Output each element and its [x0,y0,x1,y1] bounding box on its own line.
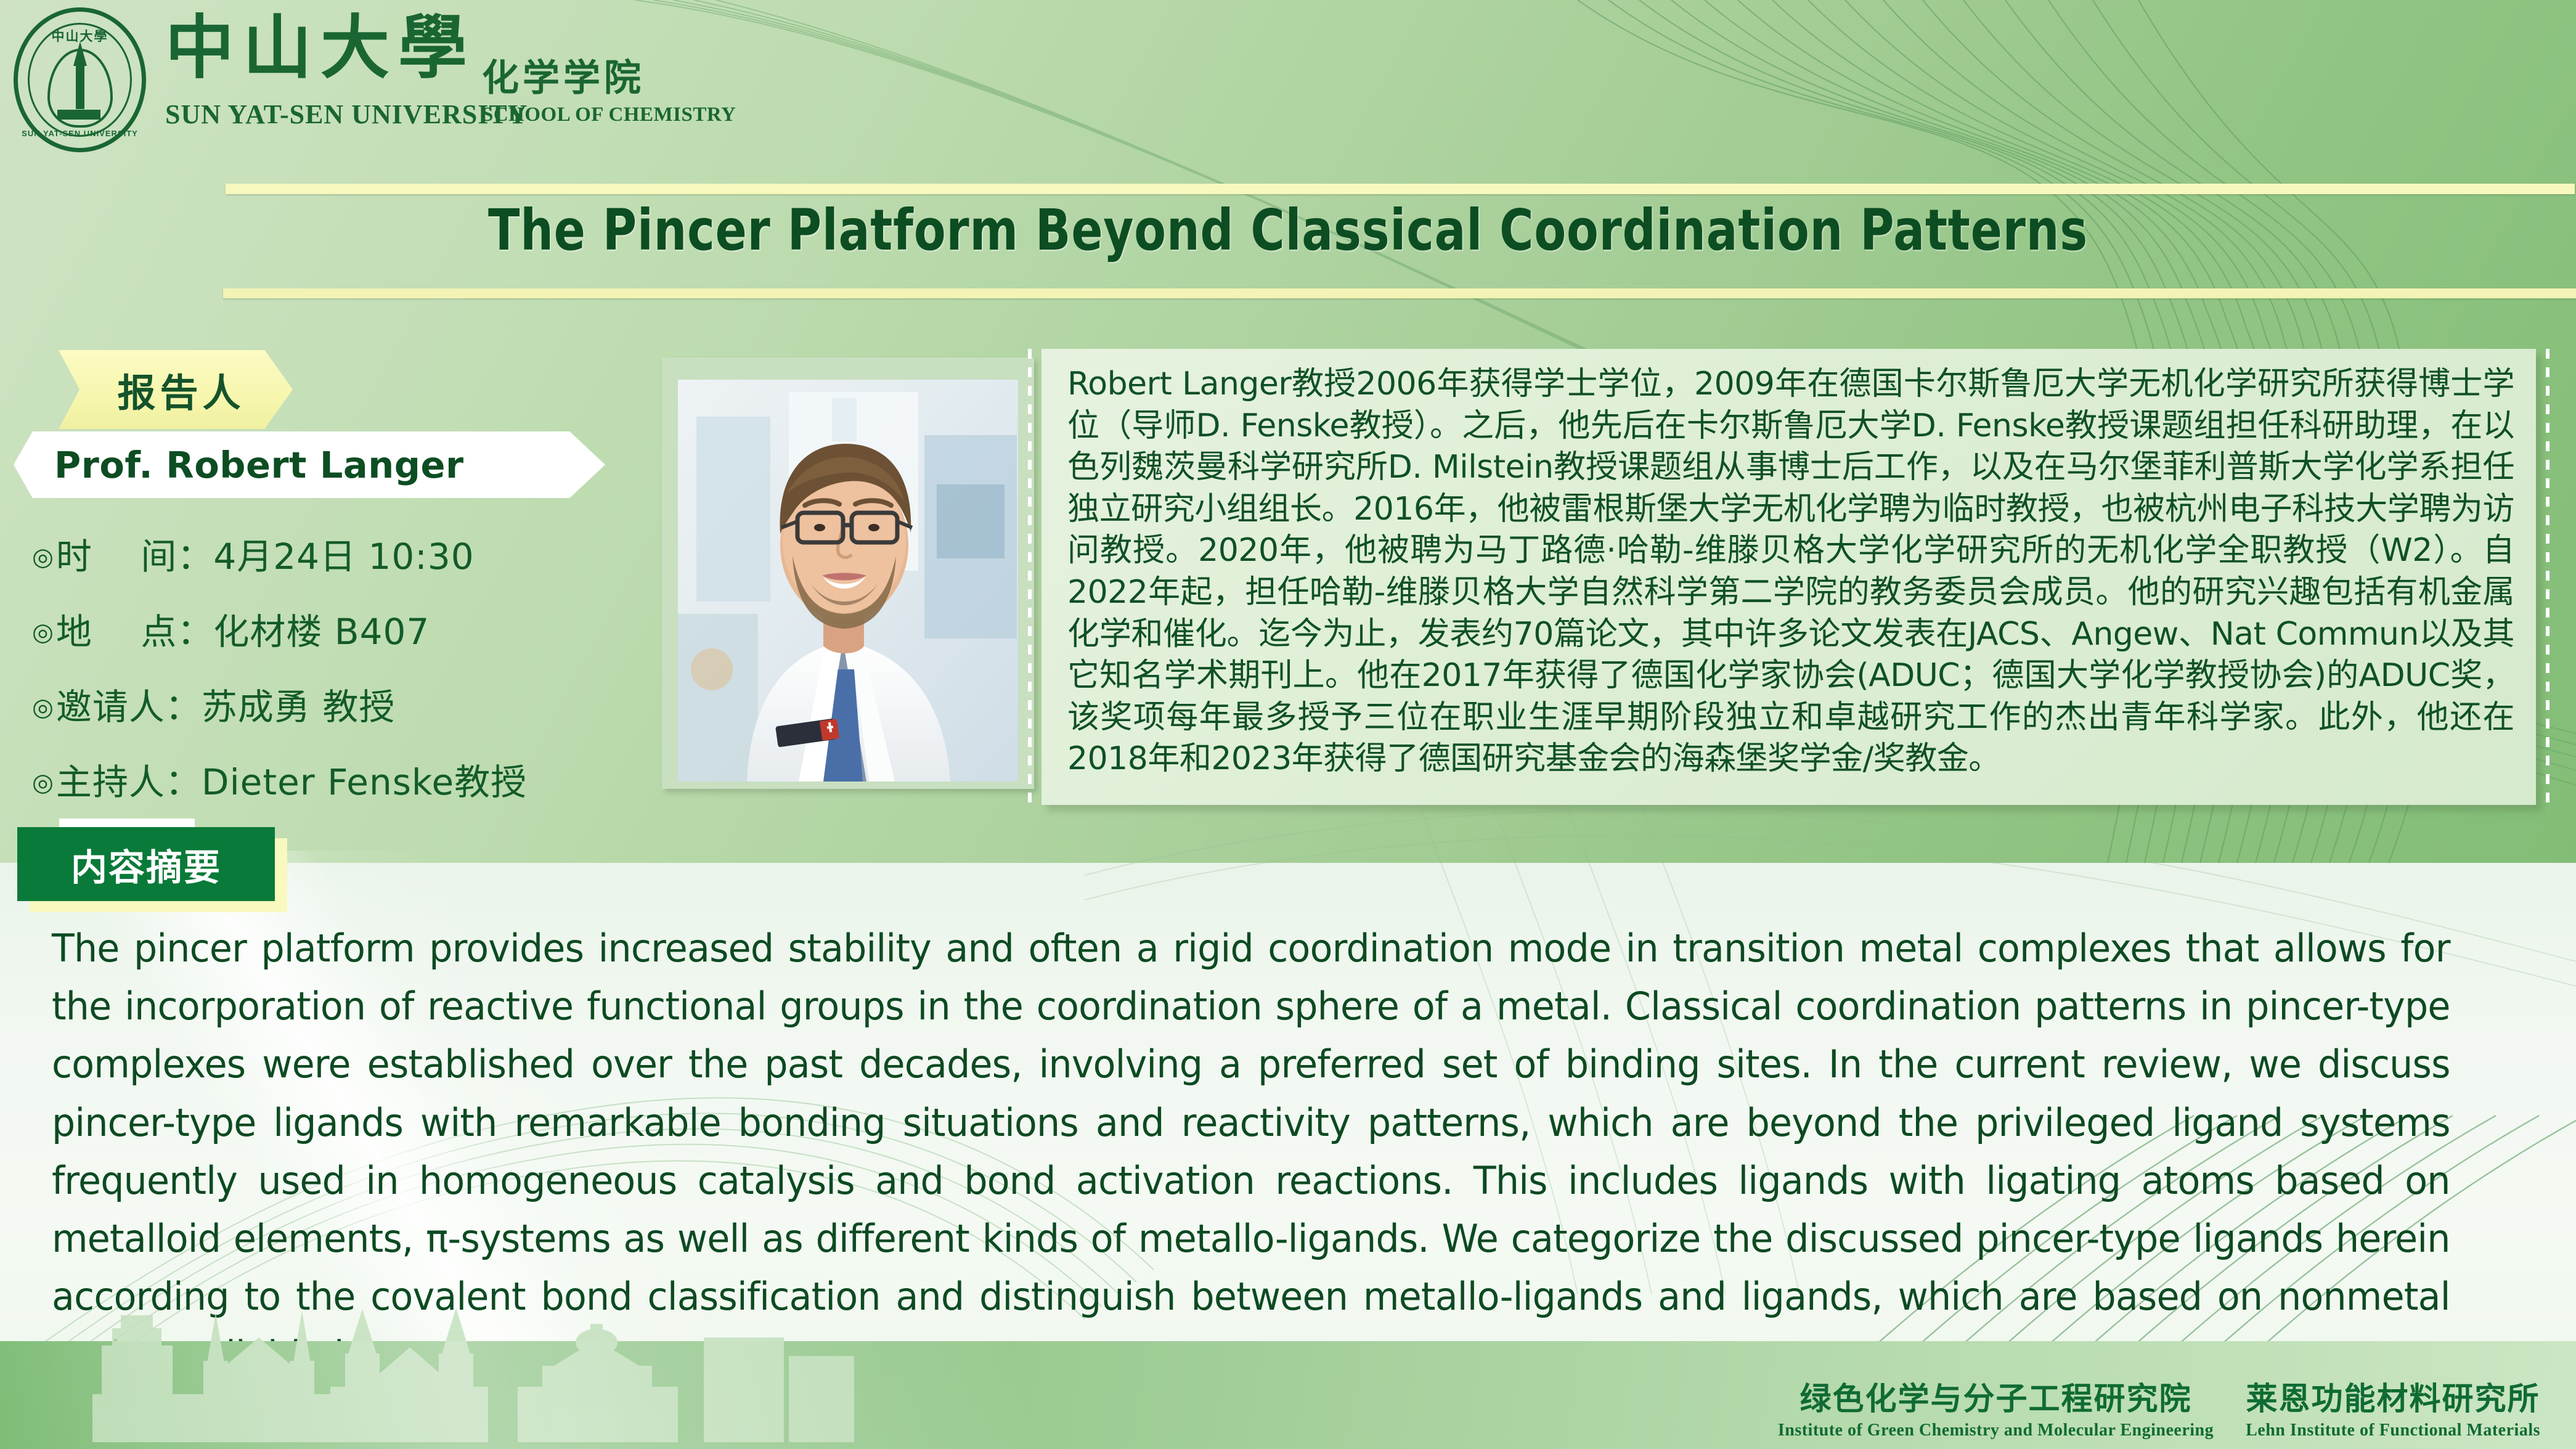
abstract-label-text: 内容摘要 [71,838,221,891]
seal-tower-body [76,65,84,109]
seal-tower-emblem [47,49,113,128]
speaker-name-ribbon: Prof. Robert Langer [14,431,605,498]
detail-host: 主持人：Dieter Fenske教授 [56,753,527,805]
university-name-chinese: 中山大學 [165,11,476,86]
detail-location: 地 点：化材楼 B407 [56,603,430,655]
speaker-photo [678,380,1018,782]
speaker-name: Prof. Robert Langer [14,444,464,486]
university-name-english: SUN YAT-SEN UNIVERSITY [165,99,528,130]
detail-time: 时 间：4月24日 10:30 [56,528,475,579]
bullet-icon: ◎ [32,769,54,797]
seal-english-text: SUN YAT-SEN UNIVERSITY [18,129,142,138]
biography-text: Robert Langer教授2006年获得学士学位，2009年在德国卡尔斯鲁厄… [1067,364,2514,780]
footer-institutes: 绿色化学与分子工程研究院 Institute of Green Chemistr… [1778,1382,2540,1440]
bullet-icon: ◎ [32,618,54,647]
bullet-icon: ◎ [32,693,54,722]
detail-row-host: ◎ 主持人：Dieter Fenske教授 [32,753,661,805]
speaker-banner: 报告人 [59,350,293,429]
institute-green-chemistry: 绿色化学与分子工程研究院 Institute of Green Chemistr… [1778,1382,2214,1440]
speaker-details: ◎ 时 间：4月24日 10:30 ◎ 地 点：化材楼 B407 ◎ 邀请人：苏… [32,528,661,828]
institute-green-chemistry-en: Institute of Green Chemistry and Molecul… [1778,1421,2214,1440]
biography-panel: Robert Langer教授2006年获得学士学位，2009年在德国卡尔斯鲁厄… [1041,349,2536,805]
dotted-border-right [2546,349,2550,805]
department-name-chinese: 化学学院 [482,48,645,102]
university-seal-logo: 中山大學 SUN YAT-SEN UNIVERSITY [14,7,146,152]
abstract-label-box: 内容摘要 [17,827,275,901]
institute-lehn-materials: 莱恩功能材料研究所 Lehn Institute of Functional M… [2246,1382,2540,1440]
detail-row-inviter: ◎ 邀请人：苏成勇 教授 [32,678,661,730]
bullet-icon: ◎ [32,543,54,571]
speaker-photo-frame [662,357,1034,789]
seal-tower-spire [73,41,87,66]
seal-tower-base [57,110,100,120]
detail-row-location: ◎ 地 点：化材楼 B407 [32,603,661,655]
detail-inviter: 邀请人：苏成勇 教授 [56,678,395,730]
institute-lehn-materials-cn: 莱恩功能材料研究所 [2246,1382,2540,1417]
institute-lehn-materials-en: Lehn Institute of Functional Materials [2246,1421,2540,1440]
institute-green-chemistry-cn: 绿色化学与分子工程研究院 [1778,1382,2214,1417]
speaker-banner-label: 报告人 [106,362,245,417]
title-rule-top [226,184,2575,194]
title-rule-bottom [223,288,2576,298]
dotted-border-left [1028,349,1032,805]
department-name-english: SCHOOL OF CHEMISTRY [482,104,736,126]
header: 中山大學 SUN YAT-SEN UNIVERSITY 中山大學 SUN YAT… [0,0,2576,163]
abstract-body-text: The pincer platform provides increased s… [52,920,2450,1384]
seminar-poster: 中山大學 SUN YAT-SEN UNIVERSITY 中山大學 SUN YAT… [0,0,2576,1449]
page-title: The Pincer Platform Beyond Classical Coo… [232,197,2344,263]
detail-row-time: ◎ 时 间：4月24日 10:30 [32,528,661,579]
